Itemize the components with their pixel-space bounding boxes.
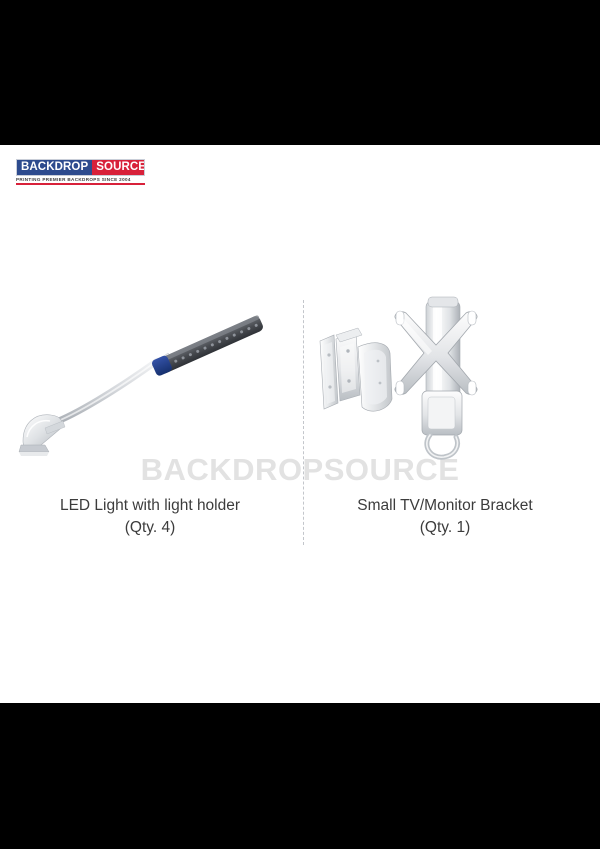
letterbox-bottom (0, 703, 600, 849)
slide-content-area: BACKDROP SOURCE PRINTING PREMIER BACKDRO… (0, 145, 600, 703)
tv-bracket-caption-line-1: Small TV/Monitor Bracket (300, 495, 590, 517)
led-light-caption-line-2: (Qty. 4) (5, 517, 295, 539)
product-column-led-light: LED Light with light holder (Qty. 4) (5, 295, 295, 539)
led-light-caption-line-1: LED Light with light holder (5, 495, 295, 517)
logo-word-source: SOURCE (92, 160, 145, 175)
tv-bracket-caption-line-2: (Qty. 1) (300, 517, 590, 539)
logo-tagline: PRINTING PREMIER BACKDROPS SINCE 2004 (16, 177, 145, 182)
brand-logo[interactable]: BACKDROP SOURCE PRINTING PREMIER BACKDRO… (16, 159, 145, 185)
led-light-figure (5, 295, 295, 495)
product-column-tv-bracket: Small TV/Monitor Bracket (Qty. 1) (300, 295, 590, 539)
small-tv-monitor-bracket-photo (300, 295, 590, 495)
logo-underline-rule (16, 183, 145, 185)
logo-word-backdrop: BACKDROP (17, 160, 92, 175)
led-light-with-holder-photo (5, 295, 295, 495)
logo-badge: BACKDROP SOURCE (16, 159, 145, 176)
tv-bracket-figure (300, 295, 590, 495)
letterbox-top (0, 0, 600, 145)
slide-canvas: BACKDROP SOURCE PRINTING PREMIER BACKDRO… (0, 0, 600, 849)
